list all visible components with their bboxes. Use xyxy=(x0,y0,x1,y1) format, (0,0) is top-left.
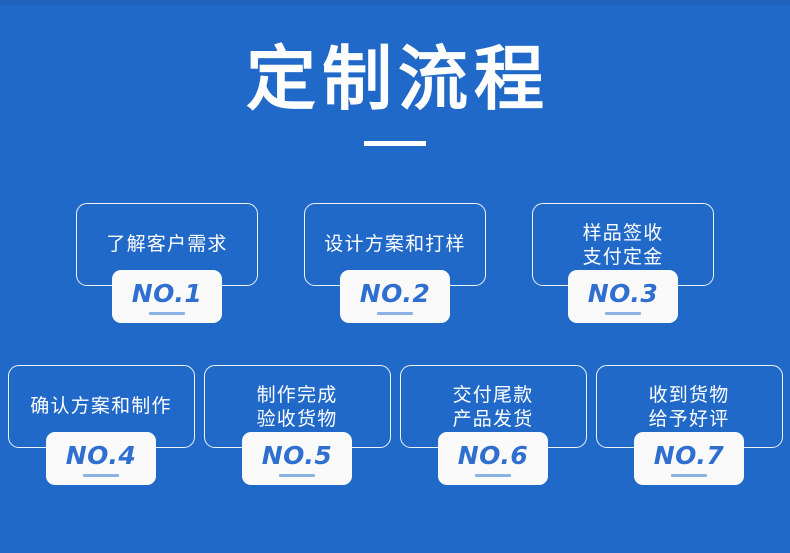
title-underline-rule xyxy=(364,141,426,146)
flow-step-card-2[interactable]: 设计方案和打样 NO.2 xyxy=(304,203,486,286)
customization-flow-poster: 定制流程 了解客户需求 NO.1 设计方案和打样 NO.2 样品签收 支付定金 … xyxy=(0,0,790,553)
flow-step-badge-1: NO.1 xyxy=(112,270,222,323)
flow-step-card-5[interactable]: 制作完成 验收货物 NO.5 xyxy=(204,365,391,448)
flow-step-badge-3: NO.3 xyxy=(568,270,678,323)
flow-step-card-6[interactable]: 交付尾款 产品发货 NO.6 xyxy=(400,365,587,448)
flow-step-badge-4: NO.4 xyxy=(46,432,156,485)
flow-step-label-1: 了解客户需求 xyxy=(106,233,227,256)
flow-step-label-5: 制作完成 验收货物 xyxy=(257,383,338,431)
flow-step-badge-5: NO.5 xyxy=(242,432,352,485)
flow-step-badge-rule-7 xyxy=(671,474,707,477)
flow-row-2: 确认方案和制作 NO.4 制作完成 验收货物 NO.5 交付尾款 产品发货 NO… xyxy=(0,365,790,448)
flow-step-badge-rule-3 xyxy=(605,312,641,315)
flow-step-label-4: 确认方案和制作 xyxy=(30,395,171,418)
flow-step-badge-text-5: NO.5 xyxy=(262,442,333,469)
flow-step-badge-rule-4 xyxy=(83,474,119,477)
flow-step-label-2: 设计方案和打样 xyxy=(324,233,465,256)
flow-step-badge-rule-5 xyxy=(279,474,315,477)
flow-step-badge-rule-1 xyxy=(149,312,185,315)
page-title-text: 定制流程 xyxy=(0,36,790,122)
flow-row-1: 了解客户需求 NO.1 设计方案和打样 NO.2 样品签收 支付定金 NO.3 xyxy=(0,203,790,286)
flow-step-card-1[interactable]: 了解客户需求 NO.1 xyxy=(76,203,258,286)
flow-step-card-7[interactable]: 收到货物 给予好评 NO.7 xyxy=(596,365,783,448)
flow-step-badge-text-2: NO.2 xyxy=(360,280,431,307)
flow-step-badge-6: NO.6 xyxy=(438,432,548,485)
flow-step-label-6: 交付尾款 产品发货 xyxy=(453,383,534,431)
flow-step-badge-text-4: NO.4 xyxy=(66,442,137,469)
page-title: 定制流程 xyxy=(0,36,790,146)
flow-step-badge-rule-6 xyxy=(475,474,511,477)
top-accent-strip xyxy=(0,0,790,5)
flow-step-badge-rule-2 xyxy=(377,312,413,315)
flow-step-badge-2: NO.2 xyxy=(340,270,450,323)
flow-step-badge-text-3: NO.3 xyxy=(588,280,659,307)
flow-step-badge-text-1: NO.1 xyxy=(132,280,203,307)
flow-step-badge-text-7: NO.7 xyxy=(654,442,725,469)
flow-step-label-7: 收到货物 给予好评 xyxy=(649,383,730,431)
flow-step-badge-7: NO.7 xyxy=(634,432,744,485)
flow-step-card-3[interactable]: 样品签收 支付定金 NO.3 xyxy=(532,203,714,286)
flow-step-card-4[interactable]: 确认方案和制作 NO.4 xyxy=(8,365,195,448)
flow-step-badge-text-6: NO.6 xyxy=(458,442,529,469)
flow-step-label-3: 样品签收 支付定金 xyxy=(583,221,664,269)
